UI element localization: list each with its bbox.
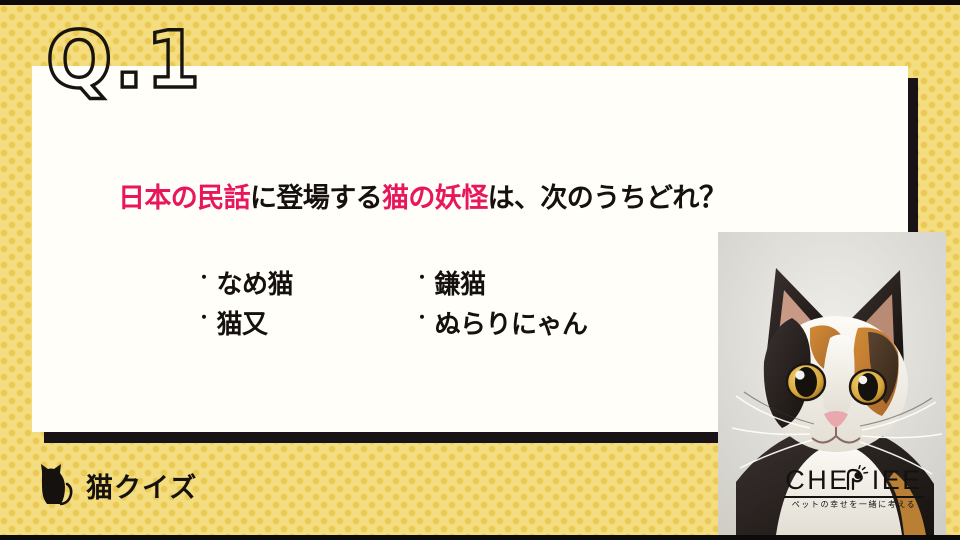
choice-label-1: なめ猫 (217, 264, 294, 301)
logo-wordmark-tail: IEE (872, 465, 923, 495)
question-mark: ？ (699, 182, 727, 214)
footer-label: 猫クイズ (34, 463, 197, 507)
question-segment-1: 日本の民話 (118, 183, 250, 213)
cheriee-logo[interactable]: CHERIEE ペットの幸せを一緒に考える (778, 466, 930, 510)
choice-label-3: 猫又 (217, 304, 268, 341)
choice-bullet-icon: ・ (196, 311, 212, 327)
question-segment-2: に登場する (250, 183, 382, 213)
black-cat-silhouette-icon (34, 463, 74, 507)
choice-option-3[interactable]: ・ 猫又 (196, 304, 414, 341)
logo-tagline: ペットの幸せを一緒に考える (778, 500, 930, 510)
letterbox-bar-bottom (0, 535, 960, 540)
footer-title: 猫クイズ (86, 466, 197, 505)
quiz-slide: Q.1 日本の民話に登場する猫の妖怪は、次のうちどれ？ ・ なめ猫 ・ 鎌猫 ・… (0, 0, 960, 540)
question-number: Q.1 (46, 22, 202, 100)
choice-bullet-icon: ・ (414, 271, 430, 287)
choice-label-2: 鎌猫 (435, 264, 486, 301)
question-segment-3: 猫の妖怪 (382, 183, 488, 213)
choice-bullet-icon: ・ (414, 311, 430, 327)
logo-wordmark: CHERIEE (778, 466, 930, 495)
choice-option-4[interactable]: ・ ぬらりにゃん (414, 304, 756, 341)
question-text: 日本の民話に登場する猫の妖怪は、次のうちどれ？ (118, 180, 818, 216)
choice-option-1[interactable]: ・ なめ猫 (196, 264, 414, 301)
choice-option-2[interactable]: ・ 鎌猫 (414, 264, 756, 301)
choice-label-4: ぬらりにゃん (435, 304, 588, 341)
logo-divider (784, 496, 924, 498)
letterbox-bar-top (0, 0, 960, 5)
choice-list: ・ なめ猫 ・ 鎌猫 ・ 猫又 ・ ぬらりにゃん (196, 262, 756, 342)
paw-r-icon (842, 465, 870, 493)
choice-bullet-icon: ・ (196, 271, 212, 287)
logo-wordmark-head: CHE (785, 465, 850, 495)
question-segment-4: は、次のうちどれ (488, 183, 699, 213)
